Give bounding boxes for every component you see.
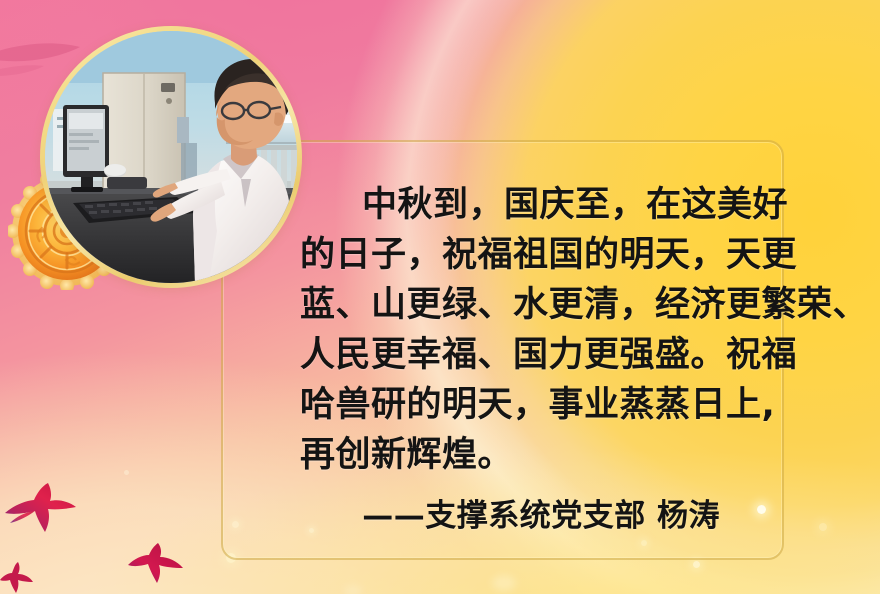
message-line: 的日子，祝福祖国的明天，天更 bbox=[300, 230, 740, 280]
message-signature: ——支撑系统党支部 杨涛 bbox=[300, 490, 740, 535]
avatar-photo-frame bbox=[40, 26, 302, 288]
message-line: 再创新辉煌。 bbox=[300, 430, 740, 480]
greeting-message: 中秋到，国庆至，在这美好 的日子，祝福祖国的明天，天更 蓝、山更绿、水更清，经济… bbox=[300, 180, 740, 535]
message-line: 蓝、山更绿、水更清，经济更繁荣、 bbox=[300, 280, 740, 330]
lab-worker-photo bbox=[45, 31, 297, 283]
avatar bbox=[45, 31, 297, 283]
greeting-card: 中秋到，国庆至，在这美好 的日子，祝福祖国的明天，天更 蓝、山更绿、水更清，经济… bbox=[0, 0, 880, 594]
message-line: 人民更幸福、国力更强盛。祝福 bbox=[300, 330, 740, 380]
message-line: 中秋到，国庆至，在这美好 bbox=[300, 180, 740, 230]
message-line: 哈兽研的明天，事业蒸蒸日上, bbox=[300, 380, 740, 430]
